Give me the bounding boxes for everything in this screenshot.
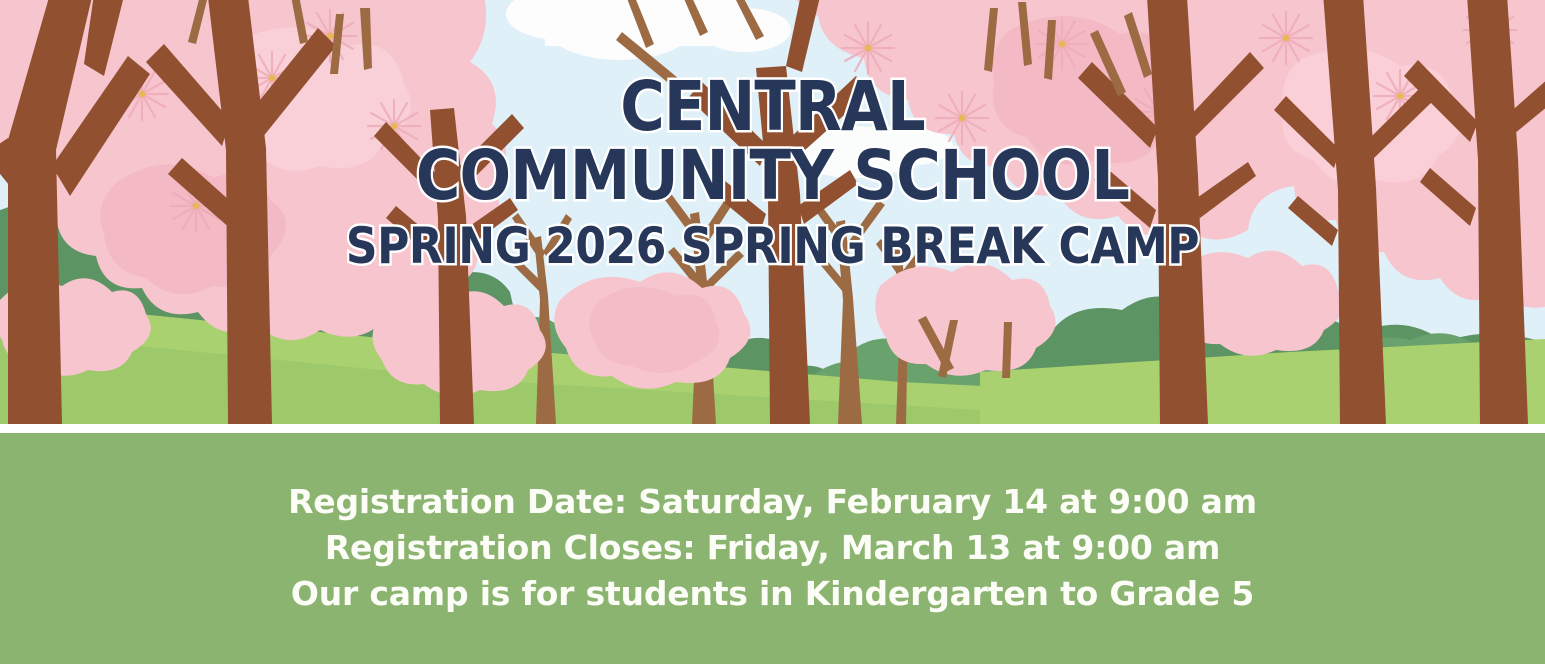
registration-closes-line: Registration Closes: Friday, March 13 at… bbox=[325, 529, 1220, 568]
scene-svg bbox=[0, 0, 1545, 424]
spring-break-camp-banner: CENTRAL COMMUNITY SCHOOL SPRING 2026 SPR… bbox=[0, 0, 1545, 664]
park-illustration bbox=[0, 0, 1545, 424]
registration-date-line: Registration Date: Saturday, February 14… bbox=[288, 483, 1257, 522]
registration-info-panel: Registration Date: Saturday, February 14… bbox=[0, 433, 1545, 664]
section-divider bbox=[0, 424, 1545, 433]
eligibility-line: Our camp is for students in Kindergarten… bbox=[291, 575, 1254, 614]
